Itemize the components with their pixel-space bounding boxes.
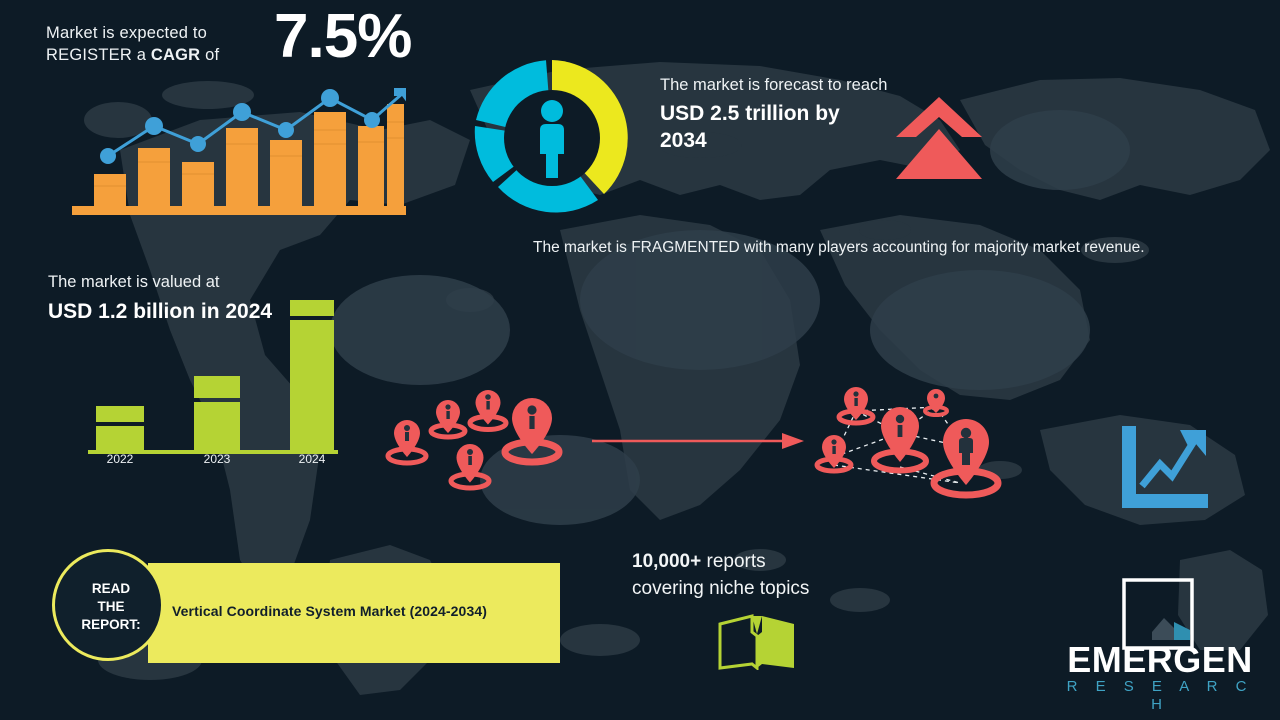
- reports-count: 10,000+: [632, 551, 701, 572]
- bar: [314, 112, 346, 206]
- bar: [387, 104, 404, 206]
- reports-count-block: 10,000+ reports covering niche topics: [632, 548, 892, 602]
- report-banner[interactable]: Vertical Coordinate System Market (2024-…: [148, 563, 560, 663]
- green-bar-group: [96, 300, 334, 450]
- emergen-logo-text: EMERGEN: [1065, 640, 1255, 680]
- map-pin-person-icon: [451, 444, 489, 488]
- scattered-pins-cluster: [380, 386, 580, 496]
- map-pin-person-icon: [874, 407, 926, 471]
- bar: [226, 128, 258, 206]
- reports-line-1-rest: reports: [701, 551, 765, 572]
- read-the-report-label: READ THE REPORT:: [55, 580, 167, 634]
- cagr-line-2-pre: REGISTER a: [46, 46, 151, 64]
- badge-line-3: REPORT:: [55, 616, 167, 634]
- green-bar: [96, 426, 144, 450]
- badge-line-1: READ: [55, 580, 167, 598]
- bar: [270, 140, 302, 206]
- trend-point: [100, 148, 116, 164]
- green-bar-cap: [290, 300, 334, 316]
- bar: [182, 162, 214, 206]
- valuation-bar-chart: [72, 290, 352, 470]
- map-pin-person-icon: [925, 389, 947, 415]
- cagr-line-2: REGISTER a CAGR of: [46, 44, 246, 66]
- bar-group: [94, 104, 404, 206]
- trend-point: [321, 89, 339, 107]
- reports-line-2: covering niche topics: [632, 575, 892, 602]
- growth-bar-chart: [72, 86, 406, 218]
- bar: [94, 174, 126, 206]
- green-bar: [194, 402, 240, 450]
- growth-chart-icon: [1118, 424, 1210, 512]
- map-pin-person-icon: [388, 420, 426, 463]
- map-pin-person-icon: [839, 387, 873, 423]
- trend-arrow-head: [394, 88, 406, 104]
- trend-point: [233, 103, 251, 121]
- chart-baseline: [72, 206, 406, 215]
- bar: [138, 148, 170, 206]
- cagr-line-1: Market is expected to: [46, 22, 246, 44]
- map-pin-person-icon: [431, 400, 465, 437]
- cagr-line-2-post: of: [200, 46, 219, 64]
- map-pin-person-icon: [470, 390, 506, 430]
- up-arrows-icon: [894, 95, 984, 183]
- research-logo-text: R E S E A R C H: [1065, 678, 1255, 714]
- read-the-report-badge[interactable]: READ THE REPORT:: [52, 549, 164, 661]
- green-bar: [290, 320, 334, 450]
- green-bar-cap: [194, 376, 240, 398]
- cagr-keyword: CAGR: [151, 46, 200, 64]
- reports-line-1: 10,000+ reports: [632, 548, 892, 575]
- connected-pins-cluster: [810, 385, 1015, 503]
- map-pin-person-icon: [934, 419, 998, 495]
- bar: [358, 126, 384, 206]
- trend-point: [364, 112, 380, 128]
- cagr-value: 7.5%: [274, 6, 411, 68]
- badge-line-2: THE: [55, 598, 167, 616]
- forecast-label: The market is forecast to reach: [660, 74, 890, 96]
- open-book-icon: [718, 612, 796, 670]
- trend-point: [190, 136, 206, 152]
- map-pin-person-icon: [505, 398, 559, 462]
- market-share-donut: [468, 54, 636, 222]
- fragmented-statement: The market is FRAGMENTED with many playe…: [533, 236, 1223, 259]
- map-pin-person-icon: [817, 435, 851, 471]
- forecast-block: The market is forecast to reach USD 2.5 …: [660, 74, 890, 154]
- green-axis-label: 2022: [90, 452, 150, 466]
- flow-arrow-icon: [592, 428, 806, 454]
- trend-point: [145, 117, 163, 135]
- infographic-canvas: Market is expected to REGISTER a CAGR of…: [0, 0, 1280, 720]
- green-axis-label: 2023: [187, 452, 247, 466]
- report-title: Vertical Coordinate System Market (2024-…: [172, 603, 487, 619]
- cagr-description: Market is expected to REGISTER a CAGR of: [46, 22, 246, 66]
- forecast-value: USD 2.5 trillion by 2034: [660, 100, 890, 154]
- trend-point: [278, 122, 294, 138]
- green-bar-cap: [96, 406, 144, 422]
- green-axis-label: 2024: [282, 452, 342, 466]
- green-chart-labels: 2022 2023 2024: [72, 452, 352, 470]
